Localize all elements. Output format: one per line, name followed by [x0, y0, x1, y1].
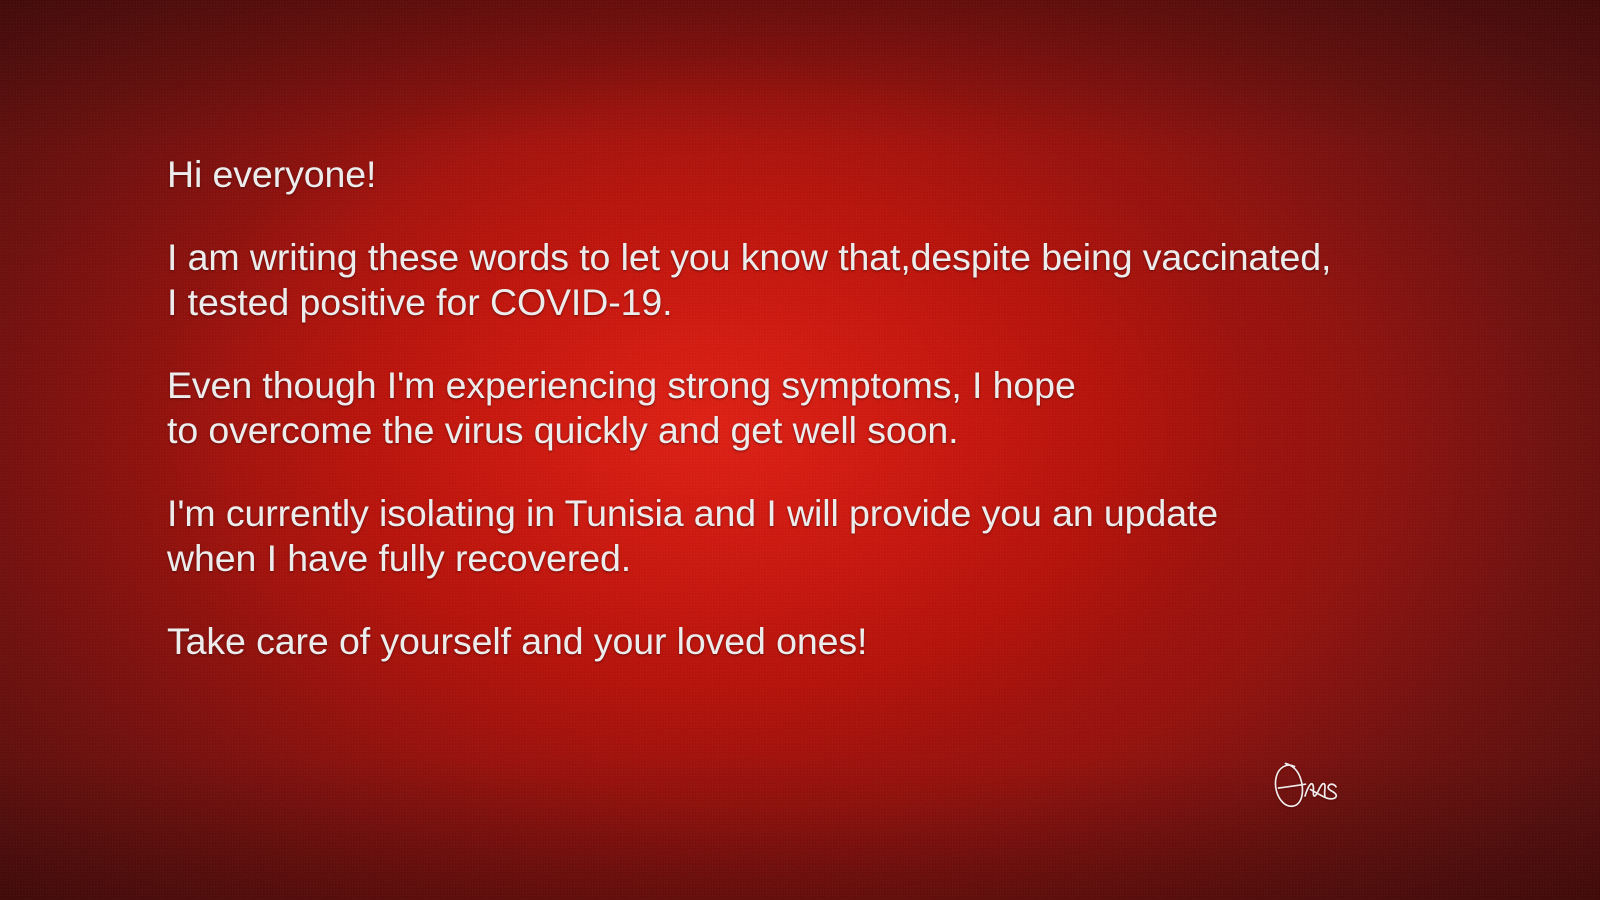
statement-line: Even though I'm experiencing strong symp… [167, 363, 1507, 408]
statement-line: I'm currently isolating in Tunisia and I… [167, 491, 1507, 536]
paragraph-greeting: Hi everyone! [167, 152, 1507, 197]
statement-line: when I have fully recovered. [167, 536, 1507, 581]
statement-line: I tested positive for COVID-19. [167, 280, 1507, 325]
statement-body: Hi everyone! I am writing these words to… [167, 152, 1507, 664]
statement-line: Take care of yourself and your loved one… [167, 619, 1507, 664]
signature-ons [1258, 748, 1368, 818]
paragraph-closing: Take care of yourself and your loved one… [167, 619, 1507, 664]
paragraph-symptoms: Even though I'm experiencing strong symp… [167, 363, 1507, 453]
statement-line: to overcome the virus quickly and get we… [167, 408, 1507, 453]
paragraph-diagnosis: I am writing these words to let you know… [167, 235, 1507, 325]
signature-icon [1258, 748, 1368, 818]
statement-line: Hi everyone! [167, 152, 1507, 197]
paragraph-isolation: I'm currently isolating in Tunisia and I… [167, 491, 1507, 581]
statement-line: I am writing these words to let you know… [167, 235, 1507, 280]
statement-card: Hi everyone! I am writing these words to… [0, 0, 1600, 900]
